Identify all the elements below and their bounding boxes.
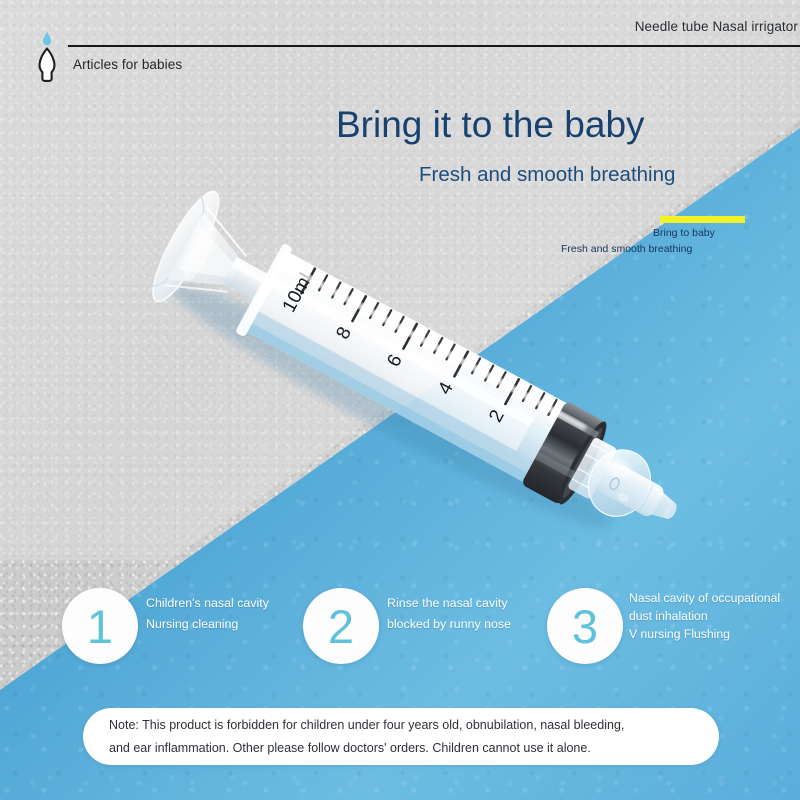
disclaimer-note-box: Note: This product is forbidden for chil… bbox=[83, 708, 719, 765]
feature-number-2: 2 bbox=[328, 603, 354, 650]
feature-2-line-2: blocked by runny nose bbox=[387, 618, 511, 630]
feature-1-line-2: Nursing cleaning bbox=[146, 618, 269, 630]
feature-badge-3: 3 bbox=[547, 588, 623, 664]
feature-number-1: 1 bbox=[87, 603, 113, 650]
feature-text-1: Children's nasal cavity Nursing cleaning bbox=[146, 597, 269, 640]
note-line-2: and ear inflammation. Other please follo… bbox=[109, 742, 693, 755]
feature-text-3: Nasal cavity of occupational dust inhala… bbox=[629, 592, 780, 647]
feature-badge-2: 2 bbox=[303, 588, 379, 664]
note-line-1: Note: This product is forbidden for chil… bbox=[109, 719, 693, 732]
feature-3-line-2: dust inhalation bbox=[629, 610, 780, 622]
hero-headline: Bring it to the baby bbox=[336, 105, 756, 145]
nasal-aspirator-droplet-icon bbox=[30, 30, 64, 82]
header-kicker-text: Needle tube Nasal irrigator bbox=[635, 19, 798, 34]
feature-3-line-3: V nursing Flushing bbox=[629, 628, 780, 640]
feature-number-3: 3 bbox=[572, 603, 598, 650]
feature-3-line-1: Nasal cavity of occupational bbox=[629, 592, 780, 604]
feature-2-line-1: Rinse the nasal cavity bbox=[387, 597, 511, 609]
feature-1-line-1: Children's nasal cavity bbox=[146, 597, 269, 609]
advertisement-canvas: Needle tube Nasal irrigator Articles for… bbox=[0, 0, 800, 800]
feature-badge-1: 1 bbox=[62, 588, 138, 664]
feature-text-2: Rinse the nasal cavity blocked by runny … bbox=[387, 597, 511, 640]
header-subtitle-text: Articles for babies bbox=[73, 57, 182, 72]
header-divider-rule bbox=[68, 45, 800, 47]
product-image-nasal-irrigator: 10ml 8 6 4 2 bbox=[95, 140, 715, 580]
